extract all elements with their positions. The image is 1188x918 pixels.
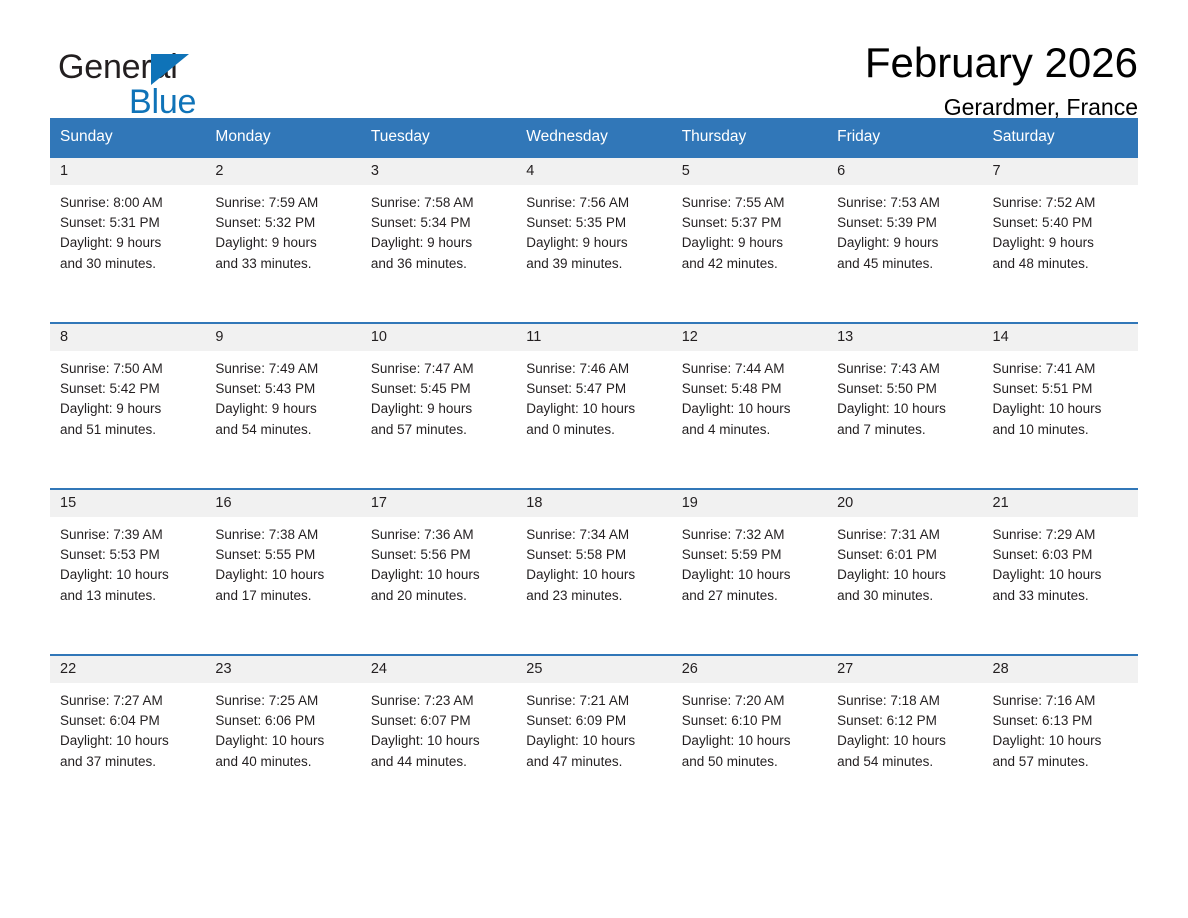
day-details: Sunrise: 7:43 AM Sunset: 5:50 PM Dayligh…	[827, 351, 982, 441]
day-details: Sunrise: 7:55 AM Sunset: 5:37 PM Dayligh…	[672, 185, 827, 275]
sunrise-text: Sunrise: 7:47 AM	[371, 359, 506, 379]
daylight-text-line1: Daylight: 10 hours	[682, 731, 817, 751]
sunrise-text: Sunrise: 7:59 AM	[215, 193, 350, 213]
daylight-text-line1: Daylight: 10 hours	[993, 565, 1128, 585]
daylight-text-line1: Daylight: 9 hours	[371, 233, 506, 253]
sunset-text: Sunset: 6:03 PM	[993, 545, 1128, 565]
daylight-text-line2: and 30 minutes.	[837, 586, 972, 606]
day-number: 17	[361, 490, 516, 517]
day-details: Sunrise: 7:58 AM Sunset: 5:34 PM Dayligh…	[361, 185, 516, 275]
daylight-text-line2: and 57 minutes.	[371, 420, 506, 440]
calendar-page: General Blue February 2026 Gerardmer, Fr…	[0, 0, 1188, 918]
generalblue-logo[interactable]: General Blue	[50, 38, 240, 112]
day-number: 6	[827, 158, 982, 185]
calendar-day-cell[interactable]: 15 Sunrise: 7:39 AM Sunset: 5:53 PM Dayl…	[50, 489, 205, 655]
sunrise-text: Sunrise: 7:21 AM	[526, 691, 661, 711]
calendar-day-cell[interactable]: 20 Sunrise: 7:31 AM Sunset: 6:01 PM Dayl…	[827, 489, 982, 655]
daylight-text-line2: and 13 minutes.	[60, 586, 195, 606]
calendar-day-cell[interactable]: 22 Sunrise: 7:27 AM Sunset: 6:04 PM Dayl…	[50, 655, 205, 820]
calendar-day-cell[interactable]: 6 Sunrise: 7:53 AM Sunset: 5:39 PM Dayli…	[827, 157, 982, 323]
daylight-text-line2: and 45 minutes.	[837, 254, 972, 274]
daylight-text-line2: and 30 minutes.	[60, 254, 195, 274]
day-number: 28	[983, 656, 1138, 683]
day-details: Sunrise: 7:36 AM Sunset: 5:56 PM Dayligh…	[361, 517, 516, 607]
day-details: Sunrise: 7:46 AM Sunset: 5:47 PM Dayligh…	[516, 351, 671, 441]
calendar-day-cell[interactable]: 14 Sunrise: 7:41 AM Sunset: 5:51 PM Dayl…	[983, 323, 1138, 489]
sunrise-text: Sunrise: 7:31 AM	[837, 525, 972, 545]
sunset-text: Sunset: 5:45 PM	[371, 379, 506, 399]
calendar-day-cell[interactable]: 4 Sunrise: 7:56 AM Sunset: 5:35 PM Dayli…	[516, 157, 671, 323]
day-details: Sunrise: 7:39 AM Sunset: 5:53 PM Dayligh…	[50, 517, 205, 607]
sunset-text: Sunset: 5:32 PM	[215, 213, 350, 233]
daylight-text-line2: and 51 minutes.	[60, 420, 195, 440]
day-number: 26	[672, 656, 827, 683]
calendar-week-row: 1 Sunrise: 8:00 AM Sunset: 5:31 PM Dayli…	[50, 157, 1138, 323]
day-number: 27	[827, 656, 982, 683]
daylight-text-line2: and 27 minutes.	[682, 586, 817, 606]
day-number: 11	[516, 324, 671, 351]
day-details: Sunrise: 7:53 AM Sunset: 5:39 PM Dayligh…	[827, 185, 982, 275]
calendar-day-cell[interactable]: 9 Sunrise: 7:49 AM Sunset: 5:43 PM Dayli…	[205, 323, 360, 489]
calendar-day-cell[interactable]: 2 Sunrise: 7:59 AM Sunset: 5:32 PM Dayli…	[205, 157, 360, 323]
sunset-text: Sunset: 6:09 PM	[526, 711, 661, 731]
daylight-text-line1: Daylight: 9 hours	[60, 399, 195, 419]
daylight-text-line2: and 37 minutes.	[60, 752, 195, 772]
day-details: Sunrise: 7:59 AM Sunset: 5:32 PM Dayligh…	[205, 185, 360, 275]
daylight-text-line1: Daylight: 10 hours	[526, 565, 661, 585]
sunrise-text: Sunrise: 7:20 AM	[682, 691, 817, 711]
day-details: Sunrise: 7:47 AM Sunset: 5:45 PM Dayligh…	[361, 351, 516, 441]
logo-triangle-icon	[151, 54, 189, 85]
daylight-text-line1: Daylight: 10 hours	[60, 731, 195, 751]
sunrise-text: Sunrise: 7:41 AM	[993, 359, 1128, 379]
calendar-day-cell[interactable]: 27 Sunrise: 7:18 AM Sunset: 6:12 PM Dayl…	[827, 655, 982, 820]
sunrise-text: Sunrise: 7:52 AM	[993, 193, 1128, 213]
daylight-text-line2: and 40 minutes.	[215, 752, 350, 772]
sunrise-text: Sunrise: 7:43 AM	[837, 359, 972, 379]
day-details: Sunrise: 7:50 AM Sunset: 5:42 PM Dayligh…	[50, 351, 205, 441]
sunset-text: Sunset: 6:10 PM	[682, 711, 817, 731]
day-number: 14	[983, 324, 1138, 351]
title-block: February 2026 Gerardmer, France	[865, 38, 1138, 122]
day-details: Sunrise: 7:32 AM Sunset: 5:59 PM Dayligh…	[672, 517, 827, 607]
daylight-text-line2: and 33 minutes.	[993, 586, 1128, 606]
sunset-text: Sunset: 5:43 PM	[215, 379, 350, 399]
daylight-text-line2: and 54 minutes.	[215, 420, 350, 440]
sunrise-text: Sunrise: 7:56 AM	[526, 193, 661, 213]
sunrise-text: Sunrise: 7:23 AM	[371, 691, 506, 711]
calendar-day-cell[interactable]: 19 Sunrise: 7:32 AM Sunset: 5:59 PM Dayl…	[672, 489, 827, 655]
day-number: 23	[205, 656, 360, 683]
day-details: Sunrise: 7:38 AM Sunset: 5:55 PM Dayligh…	[205, 517, 360, 607]
sunset-text: Sunset: 6:01 PM	[837, 545, 972, 565]
logo-text-blue: Blue	[129, 85, 196, 119]
sunrise-text: Sunrise: 7:39 AM	[60, 525, 195, 545]
weekday-header-thursday: Thursday	[672, 118, 827, 157]
day-details: Sunrise: 7:44 AM Sunset: 5:48 PM Dayligh…	[672, 351, 827, 441]
calendar-header-row: Sunday Monday Tuesday Wednesday Thursday…	[50, 118, 1138, 157]
daylight-text-line1: Daylight: 10 hours	[837, 399, 972, 419]
calendar-day-cell[interactable]: 5 Sunrise: 7:55 AM Sunset: 5:37 PM Dayli…	[672, 157, 827, 323]
daylight-text-line2: and 0 minutes.	[526, 420, 661, 440]
day-details: Sunrise: 7:16 AM Sunset: 6:13 PM Dayligh…	[983, 683, 1138, 773]
sunrise-text: Sunrise: 7:32 AM	[682, 525, 817, 545]
day-number: 19	[672, 490, 827, 517]
day-details: Sunrise: 7:56 AM Sunset: 5:35 PM Dayligh…	[516, 185, 671, 275]
calendar-week-row: 22 Sunrise: 7:27 AM Sunset: 6:04 PM Dayl…	[50, 655, 1138, 820]
sunset-text: Sunset: 5:53 PM	[60, 545, 195, 565]
sunrise-text: Sunrise: 7:18 AM	[837, 691, 972, 711]
sunset-text: Sunset: 6:06 PM	[215, 711, 350, 731]
day-details: Sunrise: 7:23 AM Sunset: 6:07 PM Dayligh…	[361, 683, 516, 773]
daylight-text-line1: Daylight: 9 hours	[215, 399, 350, 419]
sunset-text: Sunset: 6:04 PM	[60, 711, 195, 731]
daylight-text-line2: and 36 minutes.	[371, 254, 506, 274]
page-header: General Blue February 2026 Gerardmer, Fr…	[50, 0, 1138, 110]
day-number: 9	[205, 324, 360, 351]
sunset-text: Sunset: 5:31 PM	[60, 213, 195, 233]
weekday-header-saturday: Saturday	[983, 118, 1138, 157]
day-number: 25	[516, 656, 671, 683]
calendar-day-cell[interactable]: 18 Sunrise: 7:34 AM Sunset: 5:58 PM Dayl…	[516, 489, 671, 655]
sunrise-text: Sunrise: 7:50 AM	[60, 359, 195, 379]
calendar-day-cell[interactable]: 7 Sunrise: 7:52 AM Sunset: 5:40 PM Dayli…	[983, 157, 1138, 323]
daylight-text-line1: Daylight: 10 hours	[682, 565, 817, 585]
weekday-header-friday: Friday	[827, 118, 982, 157]
sunrise-text: Sunrise: 7:46 AM	[526, 359, 661, 379]
sunset-text: Sunset: 5:37 PM	[682, 213, 817, 233]
sunrise-text: Sunrise: 7:55 AM	[682, 193, 817, 213]
daylight-text-line2: and 50 minutes.	[682, 752, 817, 772]
daylight-text-line2: and 23 minutes.	[526, 586, 661, 606]
calendar-day-cell[interactable]: 13 Sunrise: 7:43 AM Sunset: 5:50 PM Dayl…	[827, 323, 982, 489]
calendar-day-cell[interactable]: 24 Sunrise: 7:23 AM Sunset: 6:07 PM Dayl…	[361, 655, 516, 820]
daylight-text-line2: and 4 minutes.	[682, 420, 817, 440]
day-number: 8	[50, 324, 205, 351]
calendar-day-cell[interactable]: 26 Sunrise: 7:20 AM Sunset: 6:10 PM Dayl…	[672, 655, 827, 820]
sunrise-text: Sunrise: 7:25 AM	[215, 691, 350, 711]
daylight-text-line1: Daylight: 10 hours	[837, 565, 972, 585]
sunrise-text: Sunrise: 7:34 AM	[526, 525, 661, 545]
sunset-text: Sunset: 5:35 PM	[526, 213, 661, 233]
calendar-day-cell[interactable]: 23 Sunrise: 7:25 AM Sunset: 6:06 PM Dayl…	[205, 655, 360, 820]
daylight-text-line2: and 54 minutes.	[837, 752, 972, 772]
calendar-body: 1 Sunrise: 8:00 AM Sunset: 5:31 PM Dayli…	[50, 157, 1138, 820]
day-details: Sunrise: 7:49 AM Sunset: 5:43 PM Dayligh…	[205, 351, 360, 441]
day-number: 4	[516, 158, 671, 185]
day-details: Sunrise: 7:20 AM Sunset: 6:10 PM Dayligh…	[672, 683, 827, 773]
sunset-text: Sunset: 5:42 PM	[60, 379, 195, 399]
daylight-text-line2: and 10 minutes.	[993, 420, 1128, 440]
sunrise-text: Sunrise: 7:53 AM	[837, 193, 972, 213]
daylight-text-line1: Daylight: 9 hours	[60, 233, 195, 253]
sunrise-text: Sunrise: 7:44 AM	[682, 359, 817, 379]
sunset-text: Sunset: 5:47 PM	[526, 379, 661, 399]
calendar-day-cell[interactable]: 8 Sunrise: 7:50 AM Sunset: 5:42 PM Dayli…	[50, 323, 205, 489]
day-number: 21	[983, 490, 1138, 517]
daylight-text-line1: Daylight: 9 hours	[682, 233, 817, 253]
calendar-week-row: 8 Sunrise: 7:50 AM Sunset: 5:42 PM Dayli…	[50, 323, 1138, 489]
calendar-day-cell[interactable]: 28 Sunrise: 7:16 AM Sunset: 6:13 PM Dayl…	[983, 655, 1138, 820]
daylight-text-line1: Daylight: 10 hours	[837, 731, 972, 751]
calendar-day-cell[interactable]: 25 Sunrise: 7:21 AM Sunset: 6:09 PM Dayl…	[516, 655, 671, 820]
day-details: Sunrise: 7:18 AM Sunset: 6:12 PM Dayligh…	[827, 683, 982, 773]
sunrise-sunset-calendar: Sunday Monday Tuesday Wednesday Thursday…	[50, 118, 1138, 820]
sunrise-text: Sunrise: 7:38 AM	[215, 525, 350, 545]
daylight-text-line1: Daylight: 10 hours	[215, 731, 350, 751]
daylight-text-line2: and 7 minutes.	[837, 420, 972, 440]
sunset-text: Sunset: 5:58 PM	[526, 545, 661, 565]
day-details: Sunrise: 7:34 AM Sunset: 5:58 PM Dayligh…	[516, 517, 671, 607]
daylight-text-line2: and 44 minutes.	[371, 752, 506, 772]
daylight-text-line2: and 17 minutes.	[215, 586, 350, 606]
day-number: 22	[50, 656, 205, 683]
sunset-text: Sunset: 5:51 PM	[993, 379, 1128, 399]
sunrise-text: Sunrise: 8:00 AM	[60, 193, 195, 213]
calendar-day-cell[interactable]: 3 Sunrise: 7:58 AM Sunset: 5:34 PM Dayli…	[361, 157, 516, 323]
daylight-text-line1: Daylight: 9 hours	[993, 233, 1128, 253]
day-number: 13	[827, 324, 982, 351]
sunset-text: Sunset: 5:34 PM	[371, 213, 506, 233]
daylight-text-line2: and 57 minutes.	[993, 752, 1128, 772]
sunset-text: Sunset: 6:07 PM	[371, 711, 506, 731]
day-number: 18	[516, 490, 671, 517]
sunset-text: Sunset: 5:40 PM	[993, 213, 1128, 233]
sunset-text: Sunset: 5:59 PM	[682, 545, 817, 565]
daylight-text-line1: Daylight: 10 hours	[526, 399, 661, 419]
page-title: February 2026	[865, 40, 1138, 85]
weekday-header-tuesday: Tuesday	[361, 118, 516, 157]
page-subtitle: Gerardmer, France	[865, 94, 1138, 122]
daylight-text-line1: Daylight: 10 hours	[993, 731, 1128, 751]
sunrise-text: Sunrise: 7:16 AM	[993, 691, 1128, 711]
day-details: Sunrise: 7:29 AM Sunset: 6:03 PM Dayligh…	[983, 517, 1138, 607]
day-details: Sunrise: 7:52 AM Sunset: 5:40 PM Dayligh…	[983, 185, 1138, 275]
sunrise-text: Sunrise: 7:36 AM	[371, 525, 506, 545]
daylight-text-line2: and 47 minutes.	[526, 752, 661, 772]
sunset-text: Sunset: 5:56 PM	[371, 545, 506, 565]
sunset-text: Sunset: 6:13 PM	[993, 711, 1128, 731]
daylight-text-line2: and 48 minutes.	[993, 254, 1128, 274]
weekday-header-wednesday: Wednesday	[516, 118, 671, 157]
sunrise-text: Sunrise: 7:49 AM	[215, 359, 350, 379]
daylight-text-line1: Daylight: 10 hours	[682, 399, 817, 419]
daylight-text-line1: Daylight: 10 hours	[993, 399, 1128, 419]
day-details: Sunrise: 7:27 AM Sunset: 6:04 PM Dayligh…	[50, 683, 205, 773]
daylight-text-line2: and 33 minutes.	[215, 254, 350, 274]
day-number: 10	[361, 324, 516, 351]
day-number: 5	[672, 158, 827, 185]
sunrise-text: Sunrise: 7:58 AM	[371, 193, 506, 213]
daylight-text-line1: Daylight: 10 hours	[526, 731, 661, 751]
sunrise-text: Sunrise: 7:27 AM	[60, 691, 195, 711]
day-number: 3	[361, 158, 516, 185]
daylight-text-line2: and 42 minutes.	[682, 254, 817, 274]
calendar-day-cell[interactable]: 16 Sunrise: 7:38 AM Sunset: 5:55 PM Dayl…	[205, 489, 360, 655]
calendar-day-cell[interactable]: 21 Sunrise: 7:29 AM Sunset: 6:03 PM Dayl…	[983, 489, 1138, 655]
day-number: 24	[361, 656, 516, 683]
daylight-text-line1: Daylight: 9 hours	[371, 399, 506, 419]
daylight-text-line2: and 39 minutes.	[526, 254, 661, 274]
day-number: 7	[983, 158, 1138, 185]
day-number: 12	[672, 324, 827, 351]
daylight-text-line1: Daylight: 9 hours	[215, 233, 350, 253]
daylight-text-line1: Daylight: 9 hours	[526, 233, 661, 253]
daylight-text-line2: and 20 minutes.	[371, 586, 506, 606]
day-number: 15	[50, 490, 205, 517]
calendar-day-cell[interactable]: 10 Sunrise: 7:47 AM Sunset: 5:45 PM Dayl…	[361, 323, 516, 489]
daylight-text-line1: Daylight: 9 hours	[837, 233, 972, 253]
day-details: Sunrise: 7:31 AM Sunset: 6:01 PM Dayligh…	[827, 517, 982, 607]
weekday-header-sunday: Sunday	[50, 118, 205, 157]
sunset-text: Sunset: 5:50 PM	[837, 379, 972, 399]
day-details: Sunrise: 7:21 AM Sunset: 6:09 PM Dayligh…	[516, 683, 671, 773]
calendar-day-cell[interactable]: 12 Sunrise: 7:44 AM Sunset: 5:48 PM Dayl…	[672, 323, 827, 489]
sunset-text: Sunset: 5:48 PM	[682, 379, 817, 399]
day-number: 2	[205, 158, 360, 185]
weekday-header-monday: Monday	[205, 118, 360, 157]
day-number: 1	[50, 158, 205, 185]
daylight-text-line1: Daylight: 10 hours	[371, 565, 506, 585]
day-details: Sunrise: 8:00 AM Sunset: 5:31 PM Dayligh…	[50, 185, 205, 275]
day-details: Sunrise: 7:41 AM Sunset: 5:51 PM Dayligh…	[983, 351, 1138, 441]
day-details: Sunrise: 7:25 AM Sunset: 6:06 PM Dayligh…	[205, 683, 360, 773]
day-number: 20	[827, 490, 982, 517]
calendar-week-row: 15 Sunrise: 7:39 AM Sunset: 5:53 PM Dayl…	[50, 489, 1138, 655]
calendar-day-cell[interactable]: 1 Sunrise: 8:00 AM Sunset: 5:31 PM Dayli…	[50, 157, 205, 323]
calendar-day-cell[interactable]: 11 Sunrise: 7:46 AM Sunset: 5:47 PM Dayl…	[516, 323, 671, 489]
calendar-day-cell[interactable]: 17 Sunrise: 7:36 AM Sunset: 5:56 PM Dayl…	[361, 489, 516, 655]
sunset-text: Sunset: 5:39 PM	[837, 213, 972, 233]
day-number: 16	[205, 490, 360, 517]
sunset-text: Sunset: 5:55 PM	[215, 545, 350, 565]
sunrise-text: Sunrise: 7:29 AM	[993, 525, 1128, 545]
daylight-text-line1: Daylight: 10 hours	[60, 565, 195, 585]
daylight-text-line1: Daylight: 10 hours	[371, 731, 506, 751]
daylight-text-line1: Daylight: 10 hours	[215, 565, 350, 585]
sunset-text: Sunset: 6:12 PM	[837, 711, 972, 731]
